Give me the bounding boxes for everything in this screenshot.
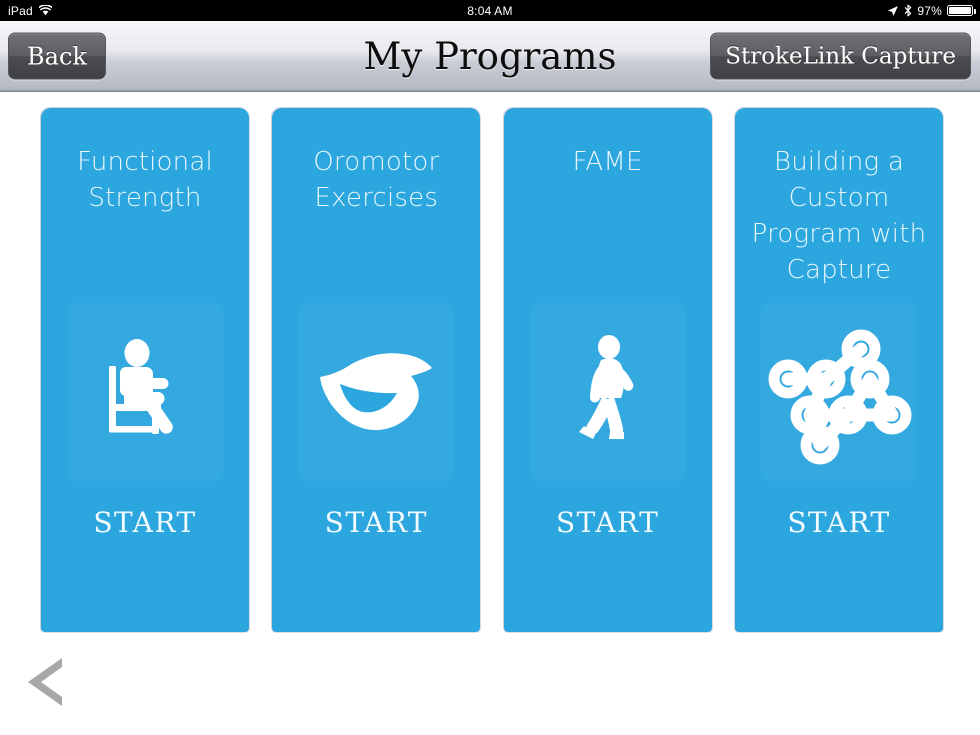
ipad-app-screen: iPad 8:04 AM 97% bbox=[0, 0, 980, 735]
program-icon-panel bbox=[67, 303, 223, 481]
start-label[interactable]: START bbox=[735, 506, 943, 539]
program-card-oromotor-exercises[interactable]: Oromotor Exercises START bbox=[272, 108, 480, 632]
program-card-fame[interactable]: FAME bbox=[504, 108, 712, 632]
chevron-left-icon[interactable] bbox=[18, 653, 70, 711]
seated-person-icon bbox=[102, 336, 188, 448]
status-bar-right: 97% bbox=[887, 4, 973, 18]
start-label[interactable]: START bbox=[272, 506, 480, 539]
battery-percent: 97% bbox=[917, 4, 942, 18]
start-label[interactable]: START bbox=[41, 506, 249, 539]
program-card-custom-capture[interactable]: Building a Custom Program with Capture bbox=[735, 108, 943, 632]
program-title: Functional Strength bbox=[50, 144, 240, 216]
start-label[interactable]: START bbox=[504, 506, 712, 539]
program-card-list: Functional Strength bbox=[41, 108, 943, 632]
battery-icon bbox=[947, 5, 973, 16]
bluetooth-icon bbox=[904, 4, 912, 17]
program-icon-panel bbox=[298, 303, 454, 481]
status-bar-time: 8:04 AM bbox=[0, 4, 980, 18]
location-arrow-icon bbox=[887, 5, 899, 17]
program-icon-panel bbox=[530, 303, 686, 481]
program-card-functional-strength[interactable]: Functional Strength bbox=[41, 108, 249, 632]
navigation-bar: Back My Programs StrokeLink Capture bbox=[0, 21, 980, 92]
mouth-lips-icon bbox=[317, 351, 435, 433]
program-icon-panel bbox=[761, 303, 917, 481]
program-title: FAME bbox=[513, 144, 703, 180]
content-area: Functional Strength bbox=[0, 93, 980, 735]
program-title: Oromotor Exercises bbox=[281, 144, 471, 216]
program-title: Building a Custom Program with Capture bbox=[744, 144, 934, 288]
network-nodes-icon bbox=[764, 317, 914, 467]
walking-person-icon bbox=[570, 335, 646, 449]
status-bar: iPad 8:04 AM 97% bbox=[0, 0, 980, 21]
strokelink-capture-button[interactable]: StrokeLink Capture bbox=[710, 33, 971, 80]
